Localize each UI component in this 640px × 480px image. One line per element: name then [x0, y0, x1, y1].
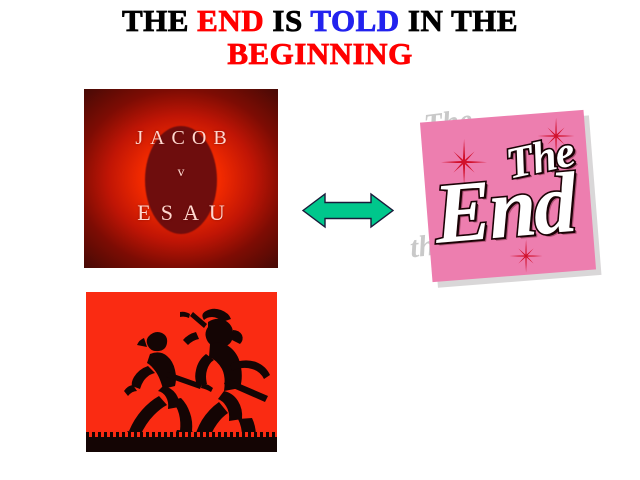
title-line-2: BEGINNING	[0, 37, 640, 70]
arrow-shape	[303, 194, 393, 227]
fencer-right	[180, 309, 270, 450]
the-end-image: The me, th The End	[408, 102, 608, 282]
ground-strip	[86, 435, 277, 452]
double-arrow-icon	[302, 191, 394, 230]
double-arrow-svg	[302, 191, 394, 230]
page-title: THE END IS TOLD IN THE BEGINNING	[0, 4, 640, 71]
title-word-in-the: IN THE	[408, 3, 518, 38]
title-word-the: THE	[122, 3, 197, 38]
esau-label: ESAU	[84, 200, 278, 226]
title-word-is: IS	[272, 3, 310, 38]
title-word-end: END	[197, 3, 272, 38]
title-word-told: TOLD	[310, 3, 408, 38]
title-line-1: THE END IS TOLD IN THE	[0, 4, 640, 37]
the-end-word-end: End	[430, 152, 577, 264]
fencers-silhouette-svg	[86, 292, 277, 452]
versus-label: v	[84, 165, 278, 181]
fencer-left	[122, 332, 213, 441]
jacob-esau-image: JACOB v ESAU	[84, 89, 278, 268]
jacob-label: JACOB	[84, 127, 278, 150]
title-word-beginning: BEGINNING	[227, 36, 412, 71]
fencers-image	[86, 292, 277, 452]
